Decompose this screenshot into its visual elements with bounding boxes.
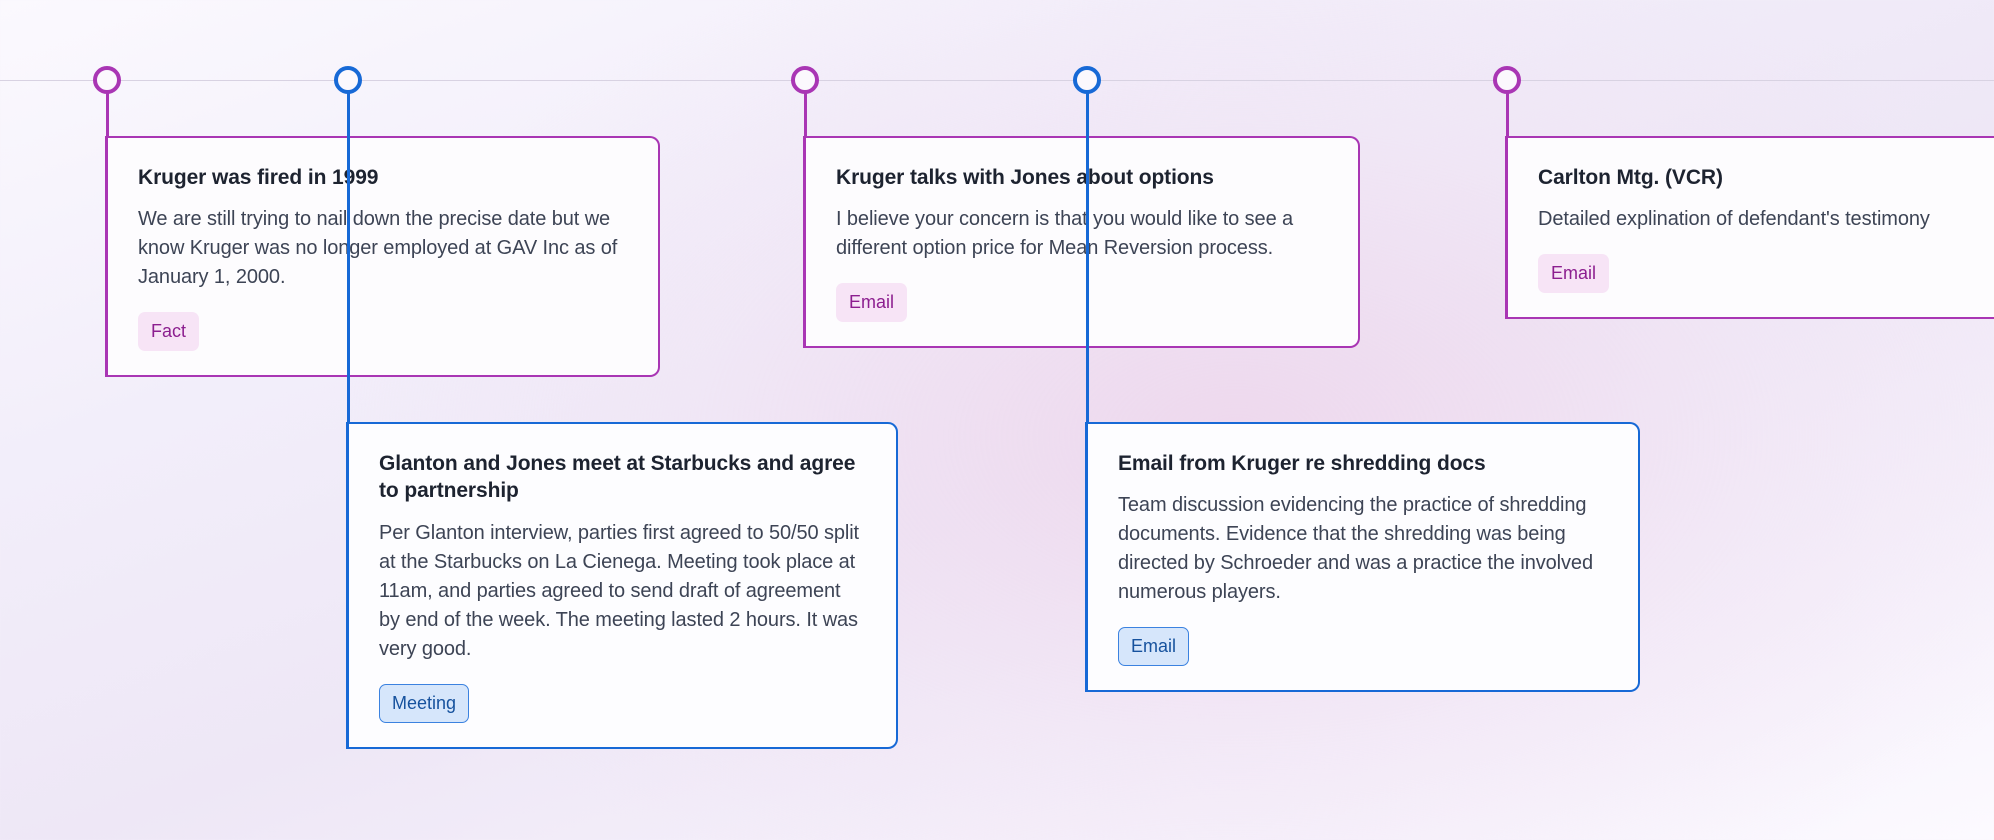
timeline-card[interactable]: Carlton Mtg. (VCR) Detailed explination … (1505, 136, 1994, 319)
timeline-marker-dot[interactable] (1073, 66, 1101, 94)
card-title: Kruger talks with Jones about options (836, 164, 1328, 191)
card-title: Kruger was fired in 1999 (138, 164, 628, 191)
card-badge-fact[interactable]: Fact (138, 312, 199, 351)
timeline-card[interactable]: Kruger was fired in 1999 We are still tr… (105, 136, 660, 377)
stem-e4 (1086, 88, 1089, 426)
card-body: Team discussion evidencing the practice … (1118, 491, 1608, 607)
card-title: Glanton and Jones meet at Starbucks and … (379, 450, 866, 505)
timeline-canvas: Kruger was fired in 1999 We are still tr… (0, 0, 1994, 840)
timeline-card[interactable]: Kruger talks with Jones about options I … (803, 136, 1360, 348)
timeline-marker-dot[interactable] (791, 66, 819, 94)
card-body: Detailed explination of defendant's test… (1538, 205, 1994, 234)
card-body: I believe your concern is that you would… (836, 205, 1328, 263)
timeline-marker-dot[interactable] (334, 66, 362, 94)
stem-e5 (1506, 88, 1509, 137)
card-badge-email[interactable]: Email (1118, 627, 1189, 666)
card-title: Carlton Mtg. (VCR) (1538, 164, 1994, 191)
timeline-marker-dot[interactable] (93, 66, 121, 94)
card-body: Per Glanton interview, parties first agr… (379, 519, 866, 664)
timeline-card[interactable]: Email from Kruger re shredding docs Team… (1085, 422, 1640, 692)
stem-e1 (106, 88, 109, 137)
card-badge-email[interactable]: Email (1538, 254, 1609, 293)
card-body: We are still trying to nail down the pre… (138, 205, 628, 292)
timeline-card[interactable]: Glanton and Jones meet at Starbucks and … (346, 422, 898, 749)
card-badge-meeting[interactable]: Meeting (379, 684, 469, 723)
timeline-marker-dot[interactable] (1493, 66, 1521, 94)
card-badge-email[interactable]: Email (836, 283, 907, 322)
card-title: Email from Kruger re shredding docs (1118, 450, 1608, 477)
stem-e2 (347, 88, 350, 426)
stem-e3 (804, 88, 807, 137)
timeline-axis (0, 80, 1994, 81)
